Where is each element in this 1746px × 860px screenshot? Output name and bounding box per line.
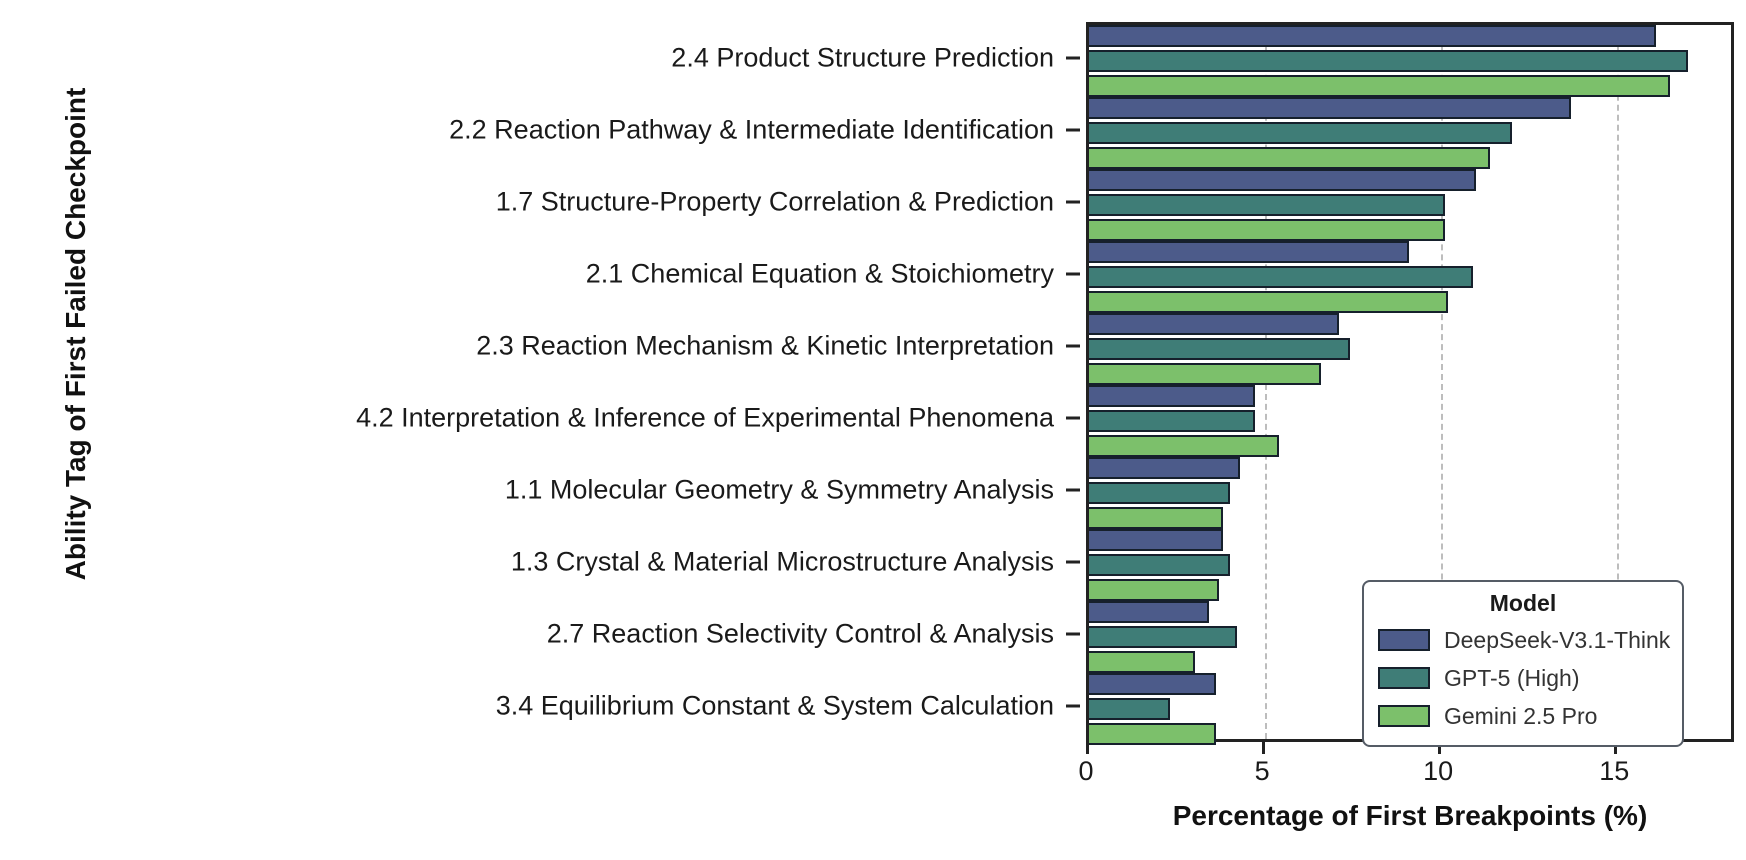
bar	[1089, 266, 1473, 288]
bar	[1089, 698, 1170, 720]
y-tick-mark	[1066, 129, 1080, 132]
legend-item[interactable]: GPT-5 (High)	[1378, 659, 1668, 697]
y-tick-label: 1.1 Molecular Geometry & Symmetry Analys…	[505, 475, 1054, 506]
bar	[1089, 338, 1350, 360]
y-tick-mark	[1066, 345, 1080, 348]
legend-swatch	[1378, 705, 1430, 727]
y-tick-label: 2.3 Reaction Mechanism & Kinetic Interpr…	[476, 331, 1054, 362]
bar	[1089, 122, 1512, 144]
x-tick-label: 10	[1423, 756, 1453, 787]
bar	[1089, 313, 1339, 335]
x-tick-label: 0	[1078, 756, 1093, 787]
legend-title: Model	[1378, 590, 1668, 617]
y-tick-label: 2.4 Product Structure Prediction	[671, 43, 1054, 74]
x-tick-mark	[1262, 742, 1265, 754]
bar	[1089, 529, 1223, 551]
y-tick-label: 1.3 Crystal & Material Microstructure An…	[511, 547, 1054, 578]
y-tick-mark	[1066, 489, 1080, 492]
bar	[1089, 219, 1445, 241]
bar	[1089, 507, 1223, 529]
bar	[1089, 651, 1195, 673]
bar	[1089, 25, 1656, 47]
bar	[1089, 291, 1448, 313]
y-tick-label: 2.2 Reaction Pathway & Intermediate Iden…	[449, 115, 1054, 146]
bar	[1089, 457, 1240, 479]
bar	[1089, 579, 1219, 601]
y-tick-mark	[1066, 633, 1080, 636]
legend-item[interactable]: Gemini 2.5 Pro	[1378, 697, 1668, 735]
y-tick-label: 1.7 Structure-Property Correlation & Pre…	[496, 187, 1054, 218]
y-tick-mark	[1066, 417, 1080, 420]
y-tick-mark	[1066, 705, 1080, 708]
bar	[1089, 75, 1670, 97]
bar	[1089, 673, 1216, 695]
bar	[1089, 410, 1255, 432]
bar	[1089, 435, 1279, 457]
y-tick-label: 2.7 Reaction Selectivity Control & Analy…	[547, 619, 1054, 650]
bar	[1089, 147, 1490, 169]
chart-figure: Ability Tag of First Failed Checkpoint 2…	[0, 0, 1746, 860]
bar	[1089, 50, 1688, 72]
bar	[1089, 363, 1321, 385]
legend-item[interactable]: DeepSeek-V3.1-Think	[1378, 621, 1668, 659]
legend-swatch	[1378, 629, 1430, 651]
bar	[1089, 385, 1255, 407]
bar	[1089, 482, 1230, 504]
y-tick-label: 4.2 Interpretation & Inference of Experi…	[356, 403, 1054, 434]
bar	[1089, 194, 1445, 216]
y-tick-label: 3.4 Equilibrium Constant & System Calcul…	[496, 691, 1054, 722]
legend: Model DeepSeek-V3.1-ThinkGPT-5 (High)Gem…	[1362, 580, 1684, 747]
y-tick-mark	[1066, 57, 1080, 60]
x-axis-title: Percentage of First Breakpoints (%)	[1086, 800, 1734, 832]
x-tick-label: 5	[1255, 756, 1270, 787]
y-axis-tick-labels: 2.4 Product Structure Prediction2.2 Reac…	[60, 22, 1080, 742]
legend-label: DeepSeek-V3.1-Think	[1444, 627, 1670, 654]
bar	[1089, 554, 1230, 576]
bar	[1089, 241, 1409, 263]
x-tick-mark	[1086, 742, 1089, 754]
bar	[1089, 169, 1476, 191]
bar	[1089, 97, 1571, 119]
legend-label: GPT-5 (High)	[1444, 665, 1579, 692]
x-axis-ticks: 051015	[1086, 742, 1734, 792]
y-tick-mark	[1066, 561, 1080, 564]
y-tick-label: 2.1 Chemical Equation & Stoichiometry	[586, 259, 1054, 290]
x-tick-label: 15	[1599, 756, 1629, 787]
legend-label: Gemini 2.5 Pro	[1444, 703, 1597, 730]
legend-entries: DeepSeek-V3.1-ThinkGPT-5 (High)Gemini 2.…	[1378, 621, 1668, 735]
bar	[1089, 626, 1237, 648]
legend-swatch	[1378, 667, 1430, 689]
y-tick-mark	[1066, 201, 1080, 204]
y-tick-mark	[1066, 273, 1080, 276]
bar	[1089, 601, 1209, 623]
